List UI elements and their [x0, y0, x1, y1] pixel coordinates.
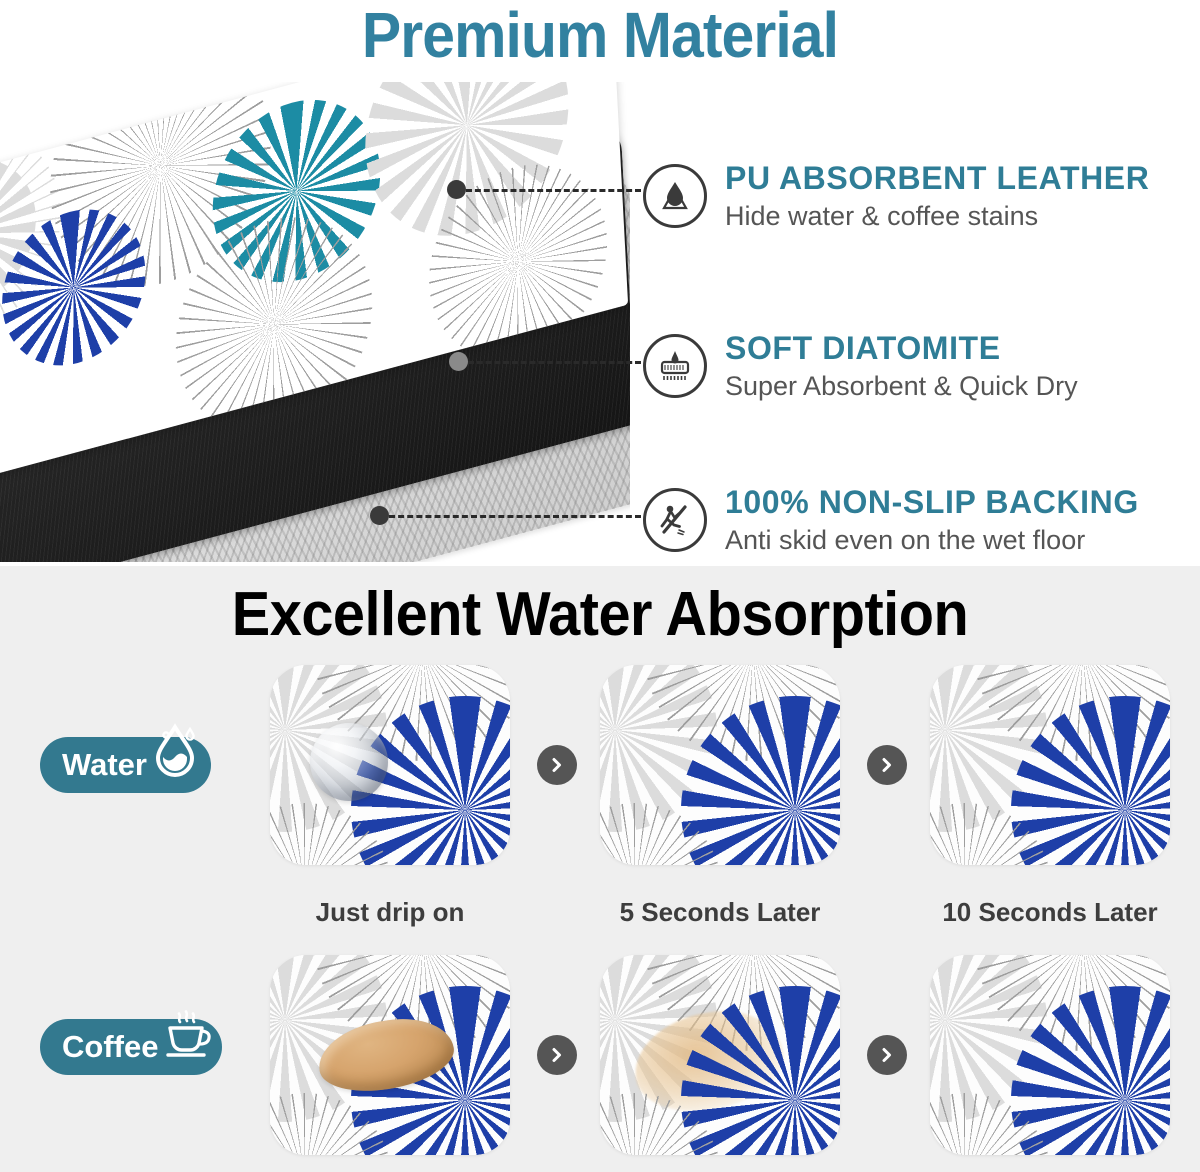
badge-label: Coffee: [62, 1030, 158, 1064]
badge-coffee: Coffee: [40, 1019, 222, 1075]
tile-water-step-3: [930, 665, 1170, 865]
product-photo-layered-mat: [0, 82, 630, 562]
connector-dot-3: [370, 506, 389, 525]
water-droplet-bead: [310, 723, 388, 801]
water-absorption-section: Excellent Water Absorption Water: [0, 566, 1200, 1172]
connector-dot-2: [449, 352, 468, 371]
badge-water: Water: [40, 737, 211, 793]
step-arrow-coffee-1: [537, 1035, 577, 1075]
tile-coffee-step-2: [600, 955, 840, 1155]
coffee-cup-icon: [160, 1005, 216, 1067]
connector-line-3: [389, 515, 641, 518]
caption-water-step-3: 10 Seconds Later: [900, 897, 1200, 928]
step-arrow-coffee-2: [867, 1035, 907, 1075]
feature-subtitle: Anti skid even on the wet floor: [725, 523, 1139, 557]
tile-coffee-step-3: [930, 955, 1170, 1155]
premium-material-section: Premium Material: [0, 0, 1200, 566]
caption-water-step-2: 5 Seconds Later: [570, 897, 870, 928]
mat-surface-art: [600, 955, 840, 1155]
connector-line-2: [468, 361, 641, 364]
mat-surface-art: [600, 665, 840, 865]
caption-water-step-1: Just drip on: [240, 897, 540, 928]
feature-title: SOFT DIATOMITE: [725, 329, 1078, 367]
connector-dot-1: [447, 180, 466, 199]
feature-soft-diatomite: SOFT DIATOMITE Super Absorbent & Quick D…: [643, 329, 1078, 403]
tile-coffee-step-1: [270, 955, 510, 1155]
tile-water-step-2: [600, 665, 840, 865]
connector-line-1: [466, 189, 641, 192]
feature-title: 100% NON-SLIP BACKING: [725, 483, 1139, 521]
water-drop-icon: [149, 723, 205, 785]
badge-label: Water: [62, 748, 147, 782]
absorbent-diatomite-mat-icon: [643, 334, 707, 398]
step-arrow-water-2: [867, 745, 907, 785]
feature-non-slip-backing: 100% NON-SLIP BACKING Anti skid even on …: [643, 483, 1139, 557]
mat-surface-art: [930, 955, 1170, 1155]
water-drop-on-mat-icon: [643, 164, 707, 228]
feature-title: PU ABSORBENT LEATHER: [725, 159, 1149, 197]
no-slipping-person-icon: [643, 488, 707, 552]
mat-surface-art: [270, 665, 510, 865]
absorption-title: Excellent Water Absorption: [42, 579, 1158, 651]
tile-water-step-1: [270, 665, 510, 865]
step-arrow-water-1: [537, 745, 577, 785]
feature-subtitle: Hide water & coffee stains: [725, 199, 1149, 233]
feature-pu-absorbent-leather: PU ABSORBENT LEATHER Hide water & coffee…: [643, 159, 1149, 233]
feature-subtitle: Super Absorbent & Quick Dry: [725, 369, 1078, 403]
premium-material-title: Premium Material: [48, 0, 1152, 72]
mat-surface-art: [930, 665, 1170, 865]
